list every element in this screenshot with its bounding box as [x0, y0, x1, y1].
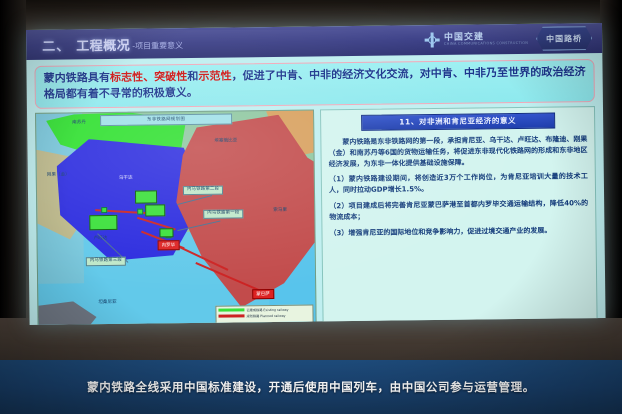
map-callout-nairobi-malaba-phase1: 内马铁路第一段: [203, 209, 243, 219]
projection-photo: 二、 工程概况 -项目重要意义 中国交建 CHINA COMMUNICATION…: [0, 0, 622, 414]
panel-title-bar: 11、对非洲和肯尼亚经济的意义: [361, 112, 555, 130]
panel-paragraph-2: （2）项目建成后将完善肯尼亚蒙巴萨港至首都内罗毕交通运输结构，降低40%的物流成…: [329, 198, 588, 223]
rail-station-dot: [101, 207, 107, 213]
summary-text: 蒙内铁路具有标志性、突破性和示范性，促进了中肯、中非的经济文化交流，对中肯、中非…: [43, 64, 585, 102]
significance-panel: 11、对非洲和肯尼亚经济的意义 蒙内铁路是东非铁路网的第一段，承担肯尼亚、乌干达…: [320, 106, 598, 325]
header-logos: 中国交建 CHINA COMMUNICATIONS CONSTRUCTION 中…: [425, 26, 592, 52]
slide-header: 二、 工程概况 -项目重要意义 中国交建 CHINA COMMUNICATION…: [26, 23, 602, 60]
summary-highlight-2: 示范性: [198, 69, 231, 82]
summary-box: 蒙内铁路具有标志性、突破性和示范性，促进了中肯、中非的经济文化交流，对中肯、中非…: [34, 59, 594, 109]
ccc-logo: 中国交建 CHINA COMMUNICATIONS CONSTRUCTION: [425, 31, 528, 47]
map-top-title: 东非铁路网规划图: [100, 113, 232, 126]
map-city-mombasa: 蒙巴萨: [252, 289, 274, 299]
map-label-tanzania: 坦桑尼亚: [98, 299, 116, 305]
slide-body: 南苏丹 乌干达 埃塞俄比亚 刚果（金） 索马里 卢旺达 坦桑尼亚 东非铁路网规划…: [27, 106, 606, 325]
map-callout-nairobi-malaba-phase2: 内马铁路第二段: [183, 185, 223, 195]
legend-item: 规划铁路 Planned railway: [218, 312, 310, 318]
map-label-south-sudan: 南苏丹: [72, 119, 86, 125]
panel-paragraph-3: （3）增强肯尼亚的国际地位和竞争影响力，促进过境交通产业的发展。: [329, 225, 588, 239]
map-city-nairobi: 内罗毕: [158, 240, 180, 250]
summary-highlight-1: 标志性、突破性: [110, 70, 188, 84]
legend-label-planned: 规划铁路 Planned railway: [246, 313, 285, 318]
map-label-uganda: 乌干达: [119, 175, 133, 181]
crbc-badge: 中国路桥: [536, 26, 592, 51]
map-marker-green-4: [89, 215, 117, 230]
page-title: 工程概况: [76, 34, 130, 54]
section-number: 二、: [42, 35, 70, 54]
map-marker-green-3: [159, 228, 173, 237]
wall-left: [0, 0, 26, 360]
summary-line1-pre: 蒙内铁路具有: [44, 71, 111, 85]
compass-star-icon: [425, 32, 440, 47]
panel-paragraph-1: （1）蒙内铁路建设期间，将创造近3万个工作岗位，为肯尼亚培训大量的技术工人，同时…: [329, 172, 588, 197]
presentation-slide: 二、 工程概况 -项目重要意义 中国交建 CHINA COMMUNICATION…: [26, 23, 606, 325]
crbc-badge-label: 中国路桥: [546, 33, 582, 44]
map-callout-nairobi-malaba-phase3: 内马铁路第三段: [86, 257, 126, 267]
summary-mid: 和: [187, 70, 198, 83]
ccc-logo-en: CHINA COMMUNICATIONS CONSTRUCTION: [444, 42, 528, 47]
wall-bottom: [0, 318, 622, 360]
caption-bar: 蒙内铁路全线采用中国标准建设，开通后使用中国列车，由中国公司参与运营管理。: [0, 360, 622, 414]
east-africa-railway-map: 南苏丹 乌干达 埃塞俄比亚 刚果（金） 索马里 卢旺达 坦桑尼亚 东非铁路网规划…: [35, 109, 317, 325]
caption-text: 蒙内铁路全线采用中国标准建设，开通后使用中国列车，由中国公司参与运营管理。: [87, 379, 535, 395]
legend-swatch-planned: [218, 314, 244, 317]
panel-paragraph-intro: 蒙内铁路是东非铁路网的第一段，承担肯尼亚、乌干达、卢旺达、布隆迪、刚果（金）和南…: [328, 134, 587, 170]
legend-label-existing: 已建成铁路 Existing railway: [246, 307, 288, 313]
map-marker-green-2: [145, 204, 165, 216]
page-subtitle: -项目重要意义: [132, 40, 183, 52]
rail-station-dot: [137, 208, 143, 214]
legend-swatch-existing: [218, 308, 244, 311]
map-label-ethiopia: 埃塞俄比亚: [214, 137, 237, 143]
map-label-drc: 刚果（金）: [47, 171, 70, 177]
map-label-somalia: 索马里: [273, 207, 287, 213]
panel-title: 11、对非洲和肯尼亚经济的意义: [399, 115, 516, 127]
map-marker-green-1: [135, 190, 157, 203]
summary-line1-post: ，促进了中肯、中非的经济文化交流，对: [232, 67, 431, 82]
